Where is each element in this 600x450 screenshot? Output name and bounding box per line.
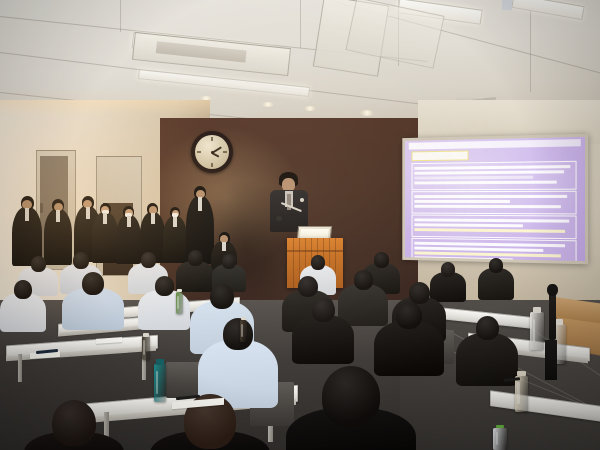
bottle-highlight (143, 340, 144, 354)
lecture-room-photo (0, 0, 600, 450)
floor-microphone-stand[interactable] (549, 290, 556, 340)
dark-bottle-2[interactable] (240, 320, 247, 342)
green-bottle-1-cap (177, 289, 181, 292)
yellow-drink-cap (517, 371, 525, 376)
dark-bottle-1[interactable] (142, 336, 150, 360)
floor-microphone-head (547, 284, 558, 296)
bottle-highlight (177, 296, 178, 309)
teal-thermos-cap (156, 359, 164, 365)
green-cap-bottle-cap (496, 425, 505, 428)
microphone-pole (545, 340, 557, 380)
bottle-highlight (241, 324, 242, 337)
teal-thermos[interactable] (154, 364, 166, 402)
yellow-drink[interactable] (515, 376, 528, 412)
green-cap-bottle[interactable] (493, 428, 507, 450)
bottle-highlight (496, 432, 499, 445)
bottle-highlight (533, 319, 536, 342)
white-thermos-1-cap (533, 307, 542, 313)
dark-bottle-1-cap (143, 333, 148, 337)
white-thermos-1[interactable] (530, 312, 544, 350)
dark-bottle-2-cap (241, 317, 245, 320)
desk-objects (0, 0, 600, 450)
bottle-highlight (156, 371, 158, 394)
green-bottle-1[interactable] (176, 292, 183, 314)
bottle-highlight (517, 382, 519, 404)
